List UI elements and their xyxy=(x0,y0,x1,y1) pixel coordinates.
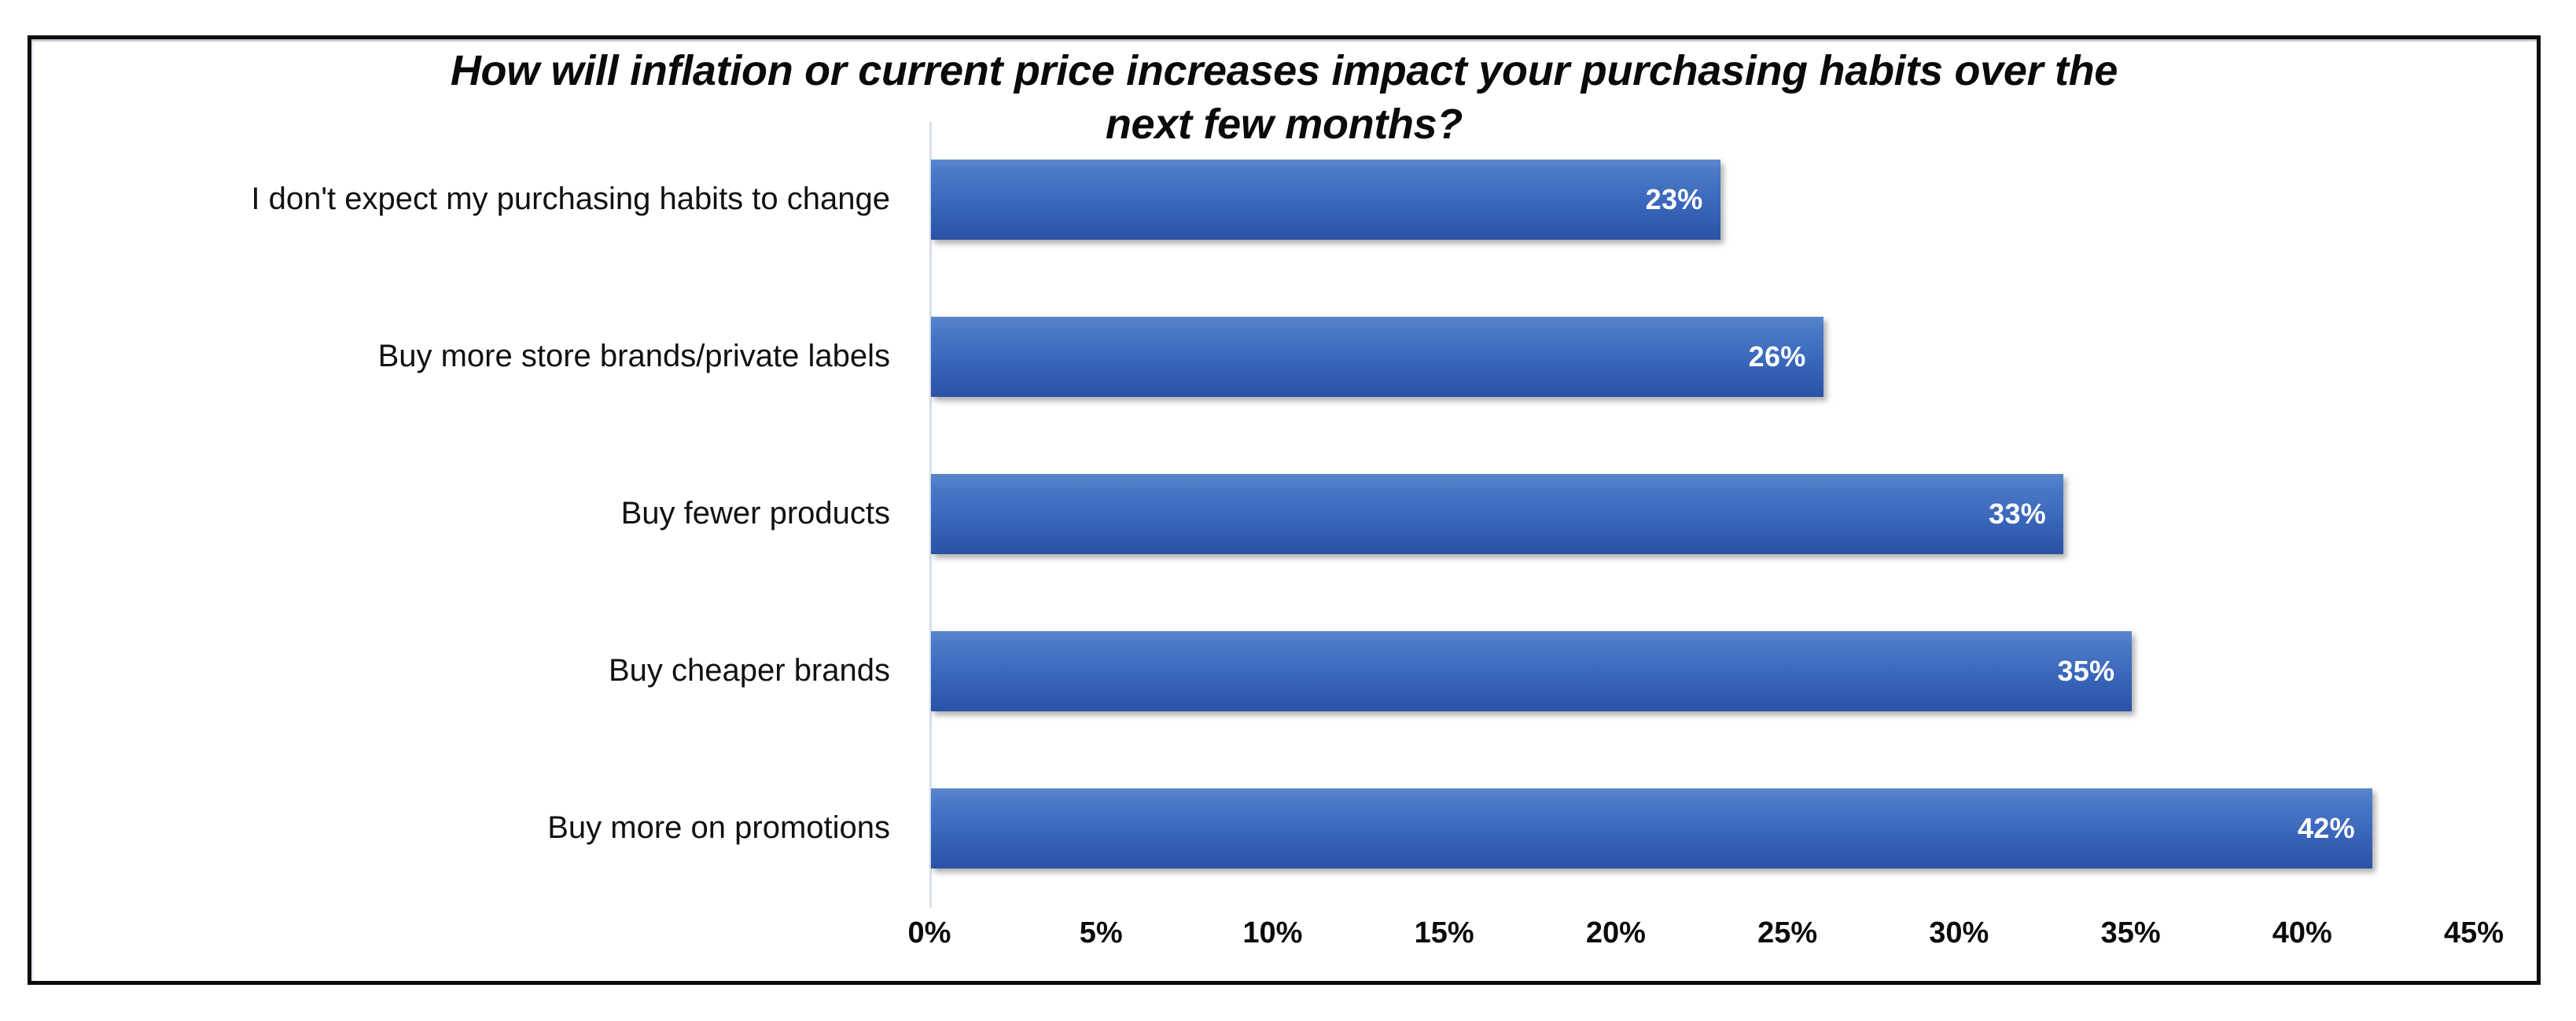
bar-value-label-3: 35% xyxy=(2057,657,2132,685)
chart-title-line-1: How will inflation or current price incr… xyxy=(31,44,2537,97)
bar-row-0: 23% xyxy=(929,122,2474,279)
x-tick-label-4: 20% xyxy=(1586,918,1646,948)
x-tick-label-8: 40% xyxy=(2272,918,2332,948)
category-label-4: Buy more on promotions xyxy=(33,812,890,843)
chart-frame: How will inflation or current price incr… xyxy=(28,35,2541,985)
x-tick-label-3: 15% xyxy=(1415,918,1474,948)
bar-4[interactable]: 42% xyxy=(931,788,2372,869)
value-axis-tick-labels: 0% 5% 10% 15% 20% 25% 30% 35% 40% 45% xyxy=(929,918,2474,965)
x-tick-label-7: 35% xyxy=(2101,918,2161,948)
bar-row-4: 42% xyxy=(929,751,2474,908)
bar-row-1: 26% xyxy=(929,279,2474,436)
bar-1[interactable]: 26% xyxy=(931,317,1823,397)
category-label-3: Buy cheaper brands xyxy=(33,655,890,686)
bar-value-label-2: 33% xyxy=(1989,500,2063,528)
plot-area: 23% 26% 33% 35% xyxy=(929,122,2474,947)
bar-value-label-1: 26% xyxy=(1749,343,1823,371)
bar-value-label-0: 23% xyxy=(1646,185,1720,214)
category-label-1: Buy more store brands/private labels xyxy=(33,340,890,372)
bar-2[interactable]: 33% xyxy=(931,474,2063,554)
bar-value-label-4: 42% xyxy=(2298,814,2372,843)
x-tick-label-6: 30% xyxy=(1929,918,1989,948)
chart-plot-background: How will inflation or current price incr… xyxy=(31,39,2537,981)
category-label-2: Buy fewer products xyxy=(33,498,890,529)
x-tick-label-5: 25% xyxy=(1757,918,1817,948)
bar-row-2: 33% xyxy=(929,436,2474,593)
x-tick-label-9: 45% xyxy=(2444,918,2504,948)
x-tick-label-1: 5% xyxy=(1080,918,1123,948)
category-label-0: I don't expect my purchasing habits to c… xyxy=(33,183,890,215)
category-axis-labels: I don't expect my purchasing habits to c… xyxy=(31,122,914,908)
bar-3[interactable]: 35% xyxy=(931,631,2132,711)
bar-0[interactable]: 23% xyxy=(931,160,1720,240)
bars-layer: 23% 26% 33% 35% xyxy=(929,122,2474,908)
bar-row-3: 35% xyxy=(929,593,2474,751)
x-tick-label-2: 10% xyxy=(1242,918,1302,948)
x-tick-label-0: 0% xyxy=(908,918,951,948)
